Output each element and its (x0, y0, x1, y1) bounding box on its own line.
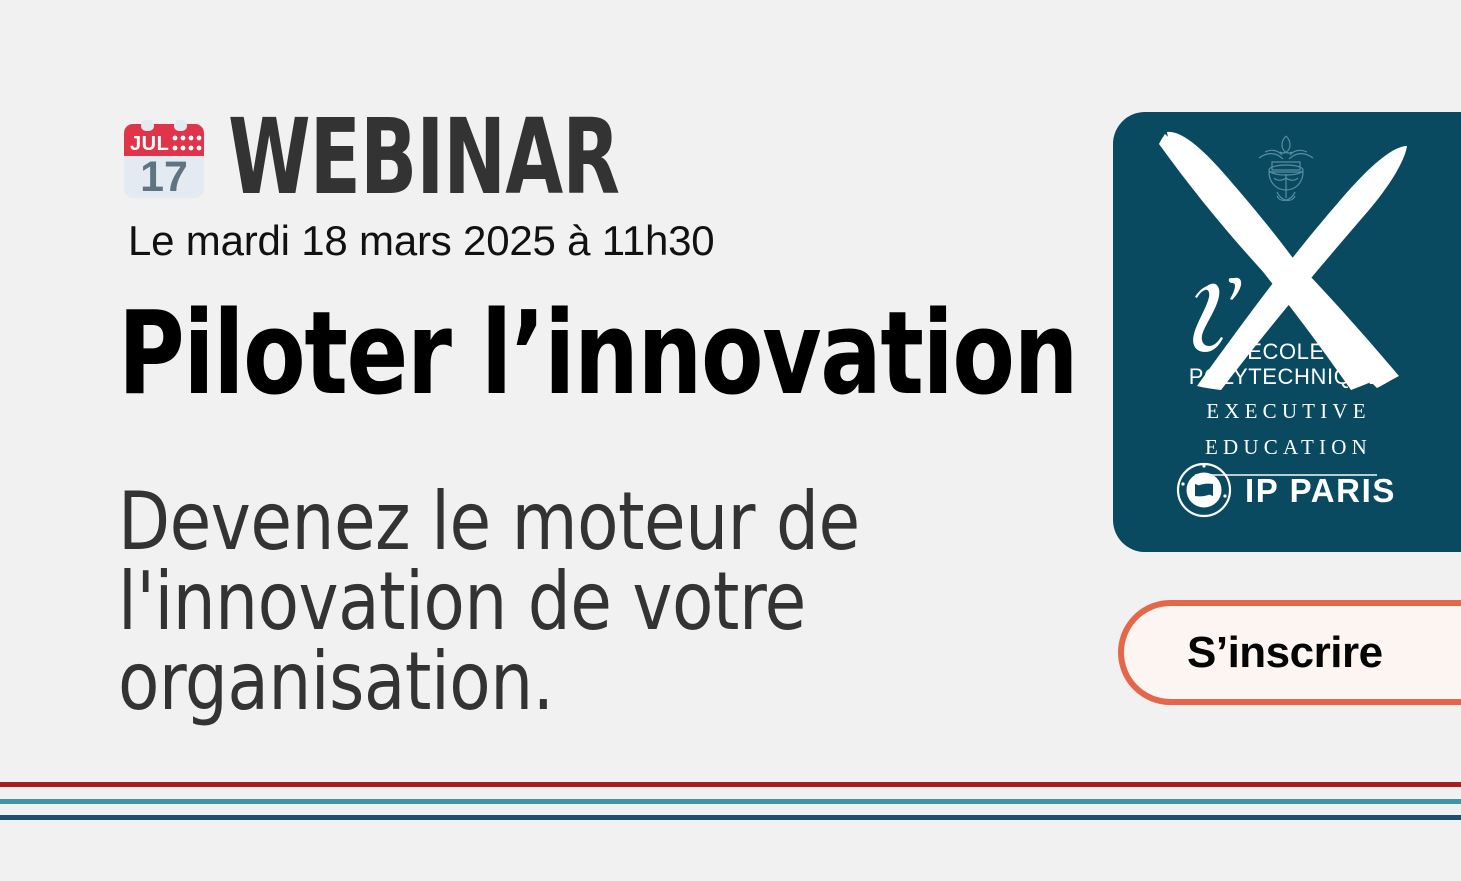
banner-content-column: JUL 17 WEBINAR Le mardi 18 mars 2025 à 1… (118, 112, 938, 802)
footer-rule-teal (0, 799, 1461, 804)
logo-program-line1: EXECUTIVE (1141, 399, 1431, 425)
eyebrow-row: JUL 17 WEBINAR (118, 112, 938, 208)
ip-paris-seal-icon (1176, 462, 1232, 518)
logo-school-line1: ÉCOLE (1141, 340, 1431, 365)
svg-text:JUL: JUL (130, 133, 169, 155)
register-button-label: S’inscrire (1187, 628, 1383, 678)
footer-rule-red (0, 782, 1461, 787)
register-button[interactable]: S’inscrire (1118, 600, 1461, 705)
eyebrow-label: WEBINAR (228, 113, 619, 202)
logo-school-line2: POLYTECHNIQUE (1141, 365, 1431, 390)
calendar-icon: JUL 17 (118, 114, 210, 206)
page-title: Piloter l’innovation (118, 304, 840, 405)
ip-paris-label: IP PARIS (1245, 474, 1396, 507)
event-date: Le mardi 18 mars 2025 à 11h30 (128, 218, 938, 264)
logo-text-block: ÉCOLE POLYTECHNIQUE EXECUTIVE EDUCATION (1141, 340, 1431, 476)
logo-program-line2: EDUCATION (1141, 435, 1431, 461)
logo-inner: ÉCOLE POLYTECHNIQUE EXECUTIVE EDUCATION (1141, 112, 1431, 552)
school-logo-card: ÉCOLE POLYTECHNIQUE EXECUTIVE EDUCATION (1113, 112, 1461, 552)
svg-text:17: 17 (140, 153, 188, 201)
footer-rule-navy (0, 815, 1461, 820)
ip-paris-row: IP PARIS (1141, 462, 1431, 518)
webinar-promo-banner: JUL 17 WEBINAR Le mardi 18 mars 2025 à 1… (0, 0, 1461, 881)
page-subtitle: Devenez le moteur de l'innovation de vot… (118, 482, 870, 722)
